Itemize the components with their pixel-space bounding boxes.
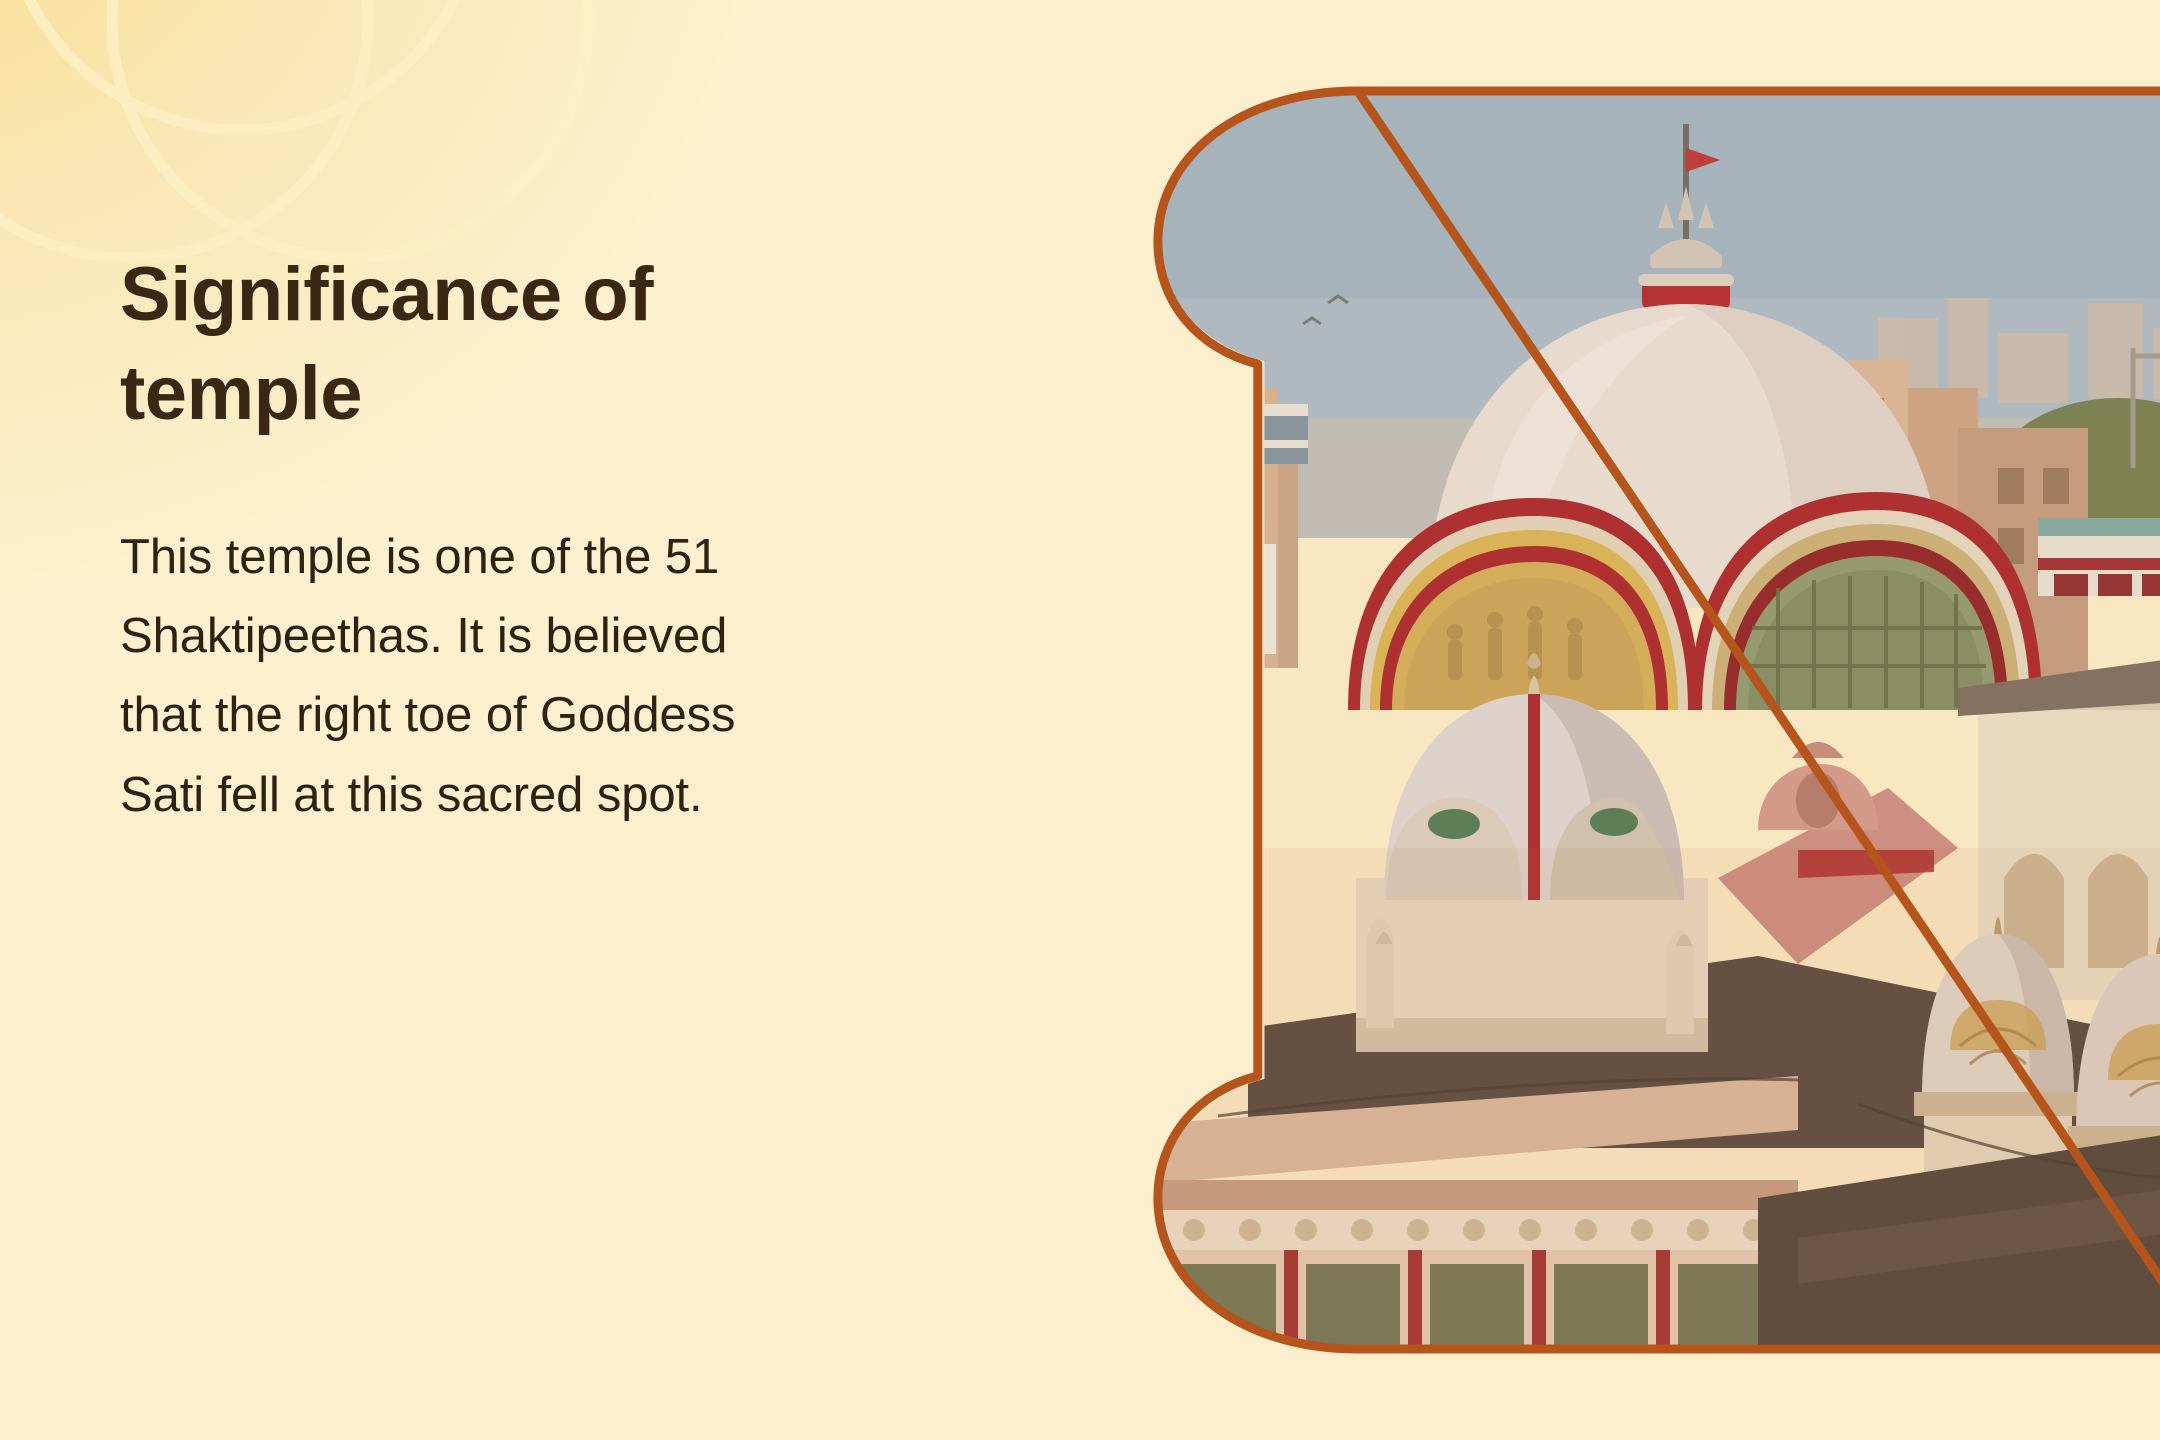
text-column: Significance of temple This temple is on… [120,246,980,835]
body-paragraph: This temple is one of the 51 Shaktipeeth… [120,518,760,836]
temple-photo-card [1098,88,2160,1352]
slide-canvas: Significance of temple This temple is on… [0,0,2160,1440]
page-title: Significance of temple [120,246,820,444]
scalloped-frame [1098,88,2160,1352]
